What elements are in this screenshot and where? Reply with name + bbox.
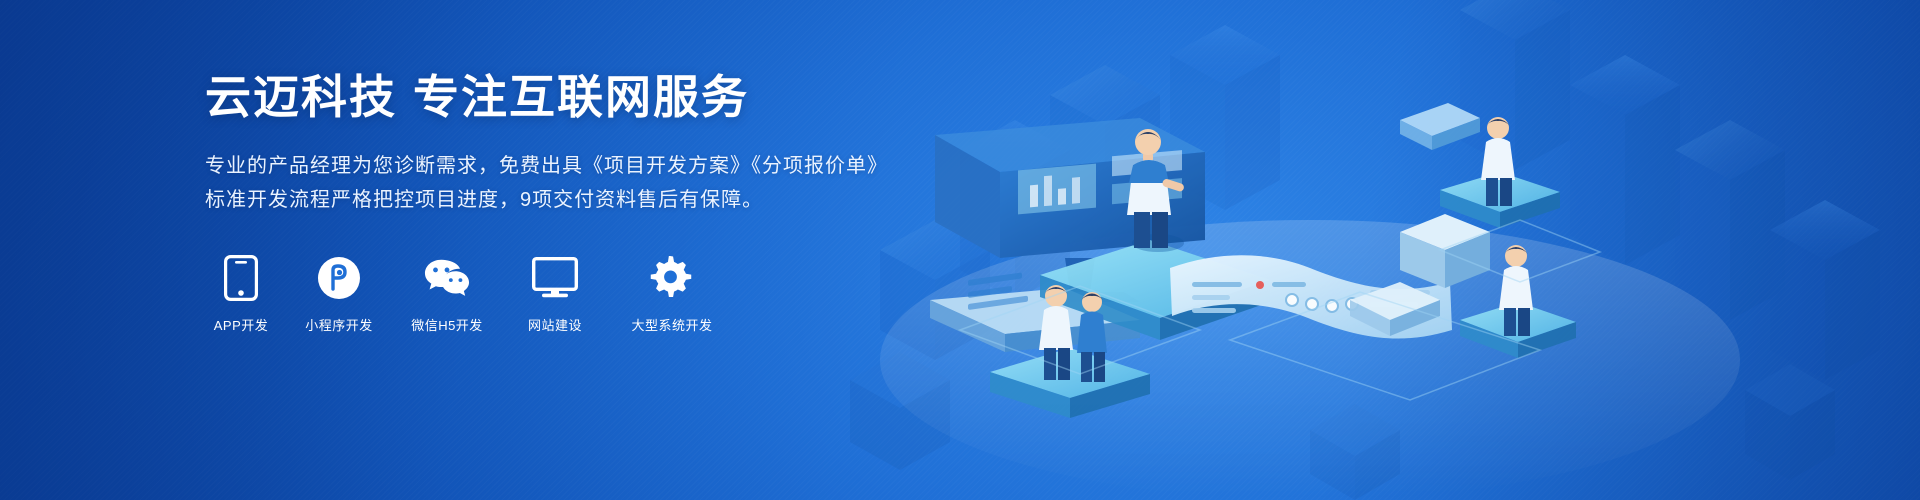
banner-content: 云迈科技专注互联网服务 专业的产品经理为您诊断需求，免费出具《项目开发方案》《分… bbox=[205, 0, 888, 500]
subtitle-line-1: 专业的产品经理为您诊断需求，免费出具《项目开发方案》《分项报价单》 bbox=[205, 149, 888, 183]
service-label-miniprogram: 小程序开发 bbox=[305, 315, 373, 334]
isometric-illustration bbox=[840, 0, 1920, 500]
service-label-app: APP开发 bbox=[214, 315, 269, 334]
service-item-app[interactable]: APP开发 bbox=[205, 255, 277, 334]
service-item-website[interactable]: 网站建设 bbox=[519, 255, 591, 334]
headline-tagline: 专注互联网服务 bbox=[413, 71, 749, 123]
headline-brand: 云迈科技 bbox=[205, 71, 397, 123]
service-label-wechat: 微信H5开发 bbox=[411, 315, 483, 334]
wechat-icon bbox=[424, 255, 470, 301]
subtitle-line-2: 标准开发流程严格把控项目进度，9项交付资料售后有保障。 bbox=[205, 183, 888, 217]
mobile-phone-icon bbox=[218, 255, 264, 301]
service-label-website: 网站建设 bbox=[528, 315, 582, 334]
hero-banner: 云迈科技专注互联网服务 专业的产品经理为您诊断需求，免费出具《项目开发方案》《分… bbox=[0, 0, 1920, 500]
service-label-system: 大型系统开发 bbox=[631, 315, 712, 334]
gear-icon bbox=[649, 255, 695, 301]
service-item-wechat[interactable]: 微信H5开发 bbox=[401, 255, 493, 334]
monitor-icon bbox=[532, 255, 578, 301]
page-title: 云迈科技专注互联网服务 bbox=[205, 72, 888, 123]
service-item-miniprogram[interactable]: 小程序开发 bbox=[303, 255, 375, 334]
service-list: APP开发 小程序开发 bbox=[205, 255, 888, 334]
service-item-system[interactable]: 大型系统开发 bbox=[617, 255, 727, 334]
mini-program-icon bbox=[316, 255, 362, 301]
